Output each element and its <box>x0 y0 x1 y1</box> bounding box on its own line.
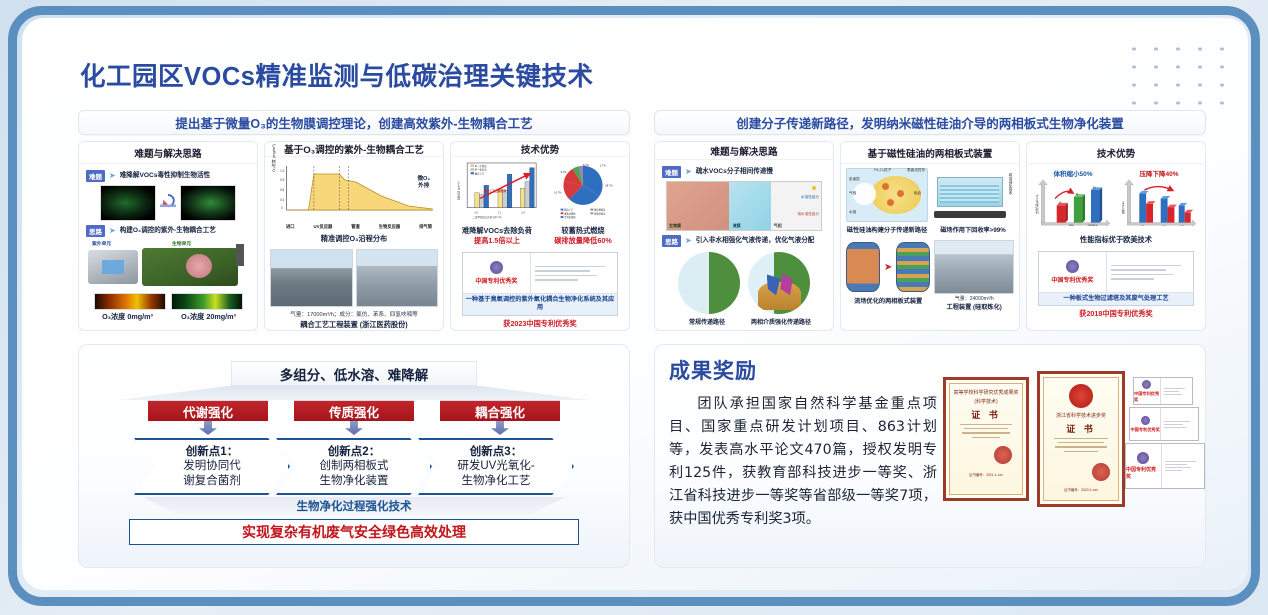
thermal-captions: O₃浓度 0mg/m³ O₃浓度 20mg/m³ <box>84 312 252 322</box>
problem-text: 疏水VOCs分子相间传递慢 <box>696 168 773 176</box>
innovation-title: 创新点3： <box>470 445 522 459</box>
panel-body: 胶束层 气相 水相 Fe₃O₄粒子 表面活性剂 硅油 磁性硅油构建分子传递新路径 <box>841 164 1019 330</box>
cert-line <box>535 270 590 272</box>
red-box-masstransfer: 传质强化 <box>294 399 414 421</box>
caption-d: 工程装置 (硅取炼化) <box>934 302 1014 311</box>
removal-load-barchart: 耦合工艺去除负荷 单一生物法 单一紫外法 耦合工艺 去除负荷 (g/m³·h) … <box>456 161 538 224</box>
panel-right-problem: 难题与解决思路 难题 ➤ 疏水VOCs分子相间传递慢 生物膜 液膜 <box>654 141 834 331</box>
plant-photos <box>270 249 438 307</box>
two-phase-path-circle <box>748 252 810 314</box>
problem-tag-row: 难题 ➤ 疏水VOCs分子相间传递慢 <box>662 166 828 178</box>
caption-a2: 提高1.5倍以上 <box>456 236 538 246</box>
carbon-emission-piechart: 6.7%1.7% 9.4%16.7%68.7% 耦合工艺 催化燃烧法 蓄热式燃烧… <box>542 161 624 224</box>
innovation-chevron-3: 创新点3： 研发UV光氧化- 生物净化工艺 <box>418 438 574 495</box>
svg-text:0.3: 0.3 <box>280 198 284 202</box>
uv-window <box>102 260 124 274</box>
official-seal-icon <box>994 446 1012 464</box>
device-top-figures: 胶束层 气相 水相 Fe₃O₄粒子 表面活性剂 硅油 磁性硅油构建分子传递新路径 <box>846 168 1014 234</box>
caption-a1: 难降解VOCs去除负荷 <box>456 226 538 236</box>
down-arrow-icon <box>148 421 268 437</box>
patent-certificate-block: 中国专利优秀奖 一种基于臭氧调控的紫外氧化耦合生物净化系统及其应用 <box>462 252 618 316</box>
certificate-award-text: 获2018中国专利优秀奖 <box>1032 309 1200 319</box>
transform-arrow-icon <box>160 193 176 213</box>
pressure-drop-chart: 压降下降40% <box>1118 168 1200 231</box>
microscopy-image-after <box>180 185 236 221</box>
flow-arrows <box>93 421 615 437</box>
caption-right: 两相介质强化传递路径 <box>748 317 814 326</box>
caption-right: O₃浓度 20mg/m³ <box>171 312 247 322</box>
xtick: 进口 <box>286 224 295 230</box>
approach-tag: 思路 <box>86 225 105 237</box>
svg-text:1.2: 1.2 <box>498 211 502 214</box>
certificate-award-text: 获2023中国专利优秀奖 <box>456 319 624 329</box>
thermal-images <box>84 293 252 310</box>
patent-mini-certificate-1: 中国专利优秀奖 <box>1133 377 1193 405</box>
bio-culture <box>186 254 212 278</box>
certificate-title: 中国专利优秀奖 <box>1051 275 1093 284</box>
poster-page: 化工园区VOCs精准监测与低碳治理关键技术 提出基于微量O₃的生物膜调控理论，创… <box>22 18 1248 590</box>
stack <box>236 244 244 266</box>
panel-head: 技术优势 <box>451 142 629 157</box>
caption-a: 磁性硅油构建分子传递新路径 <box>846 225 928 234</box>
advantage-3d-charts: 体积缩小50% 1424 <box>1032 168 1200 231</box>
patent-mini-certificate-2: 中国专利优秀奖 <box>1129 407 1199 441</box>
certificate-top: 中国专利优秀奖 <box>463 253 617 293</box>
svg-text:催化燃烧法: 催化燃烧法 <box>594 208 606 212</box>
svg-text:0: 0 <box>281 206 283 210</box>
thermal-image-20mg <box>171 293 243 310</box>
awards-title: 成果奖励 <box>669 355 779 385</box>
ozone-chart-xticks: 进口 UV反应器 管道 生物反应器 排气筒 <box>270 224 438 230</box>
advantage-captions: 难降解VOCs去除负荷 提高1.5倍以上 较蓄热式燃烧 碳排放量降低60% <box>456 226 624 246</box>
mini-cert-label: 中国专利优秀奖 <box>1134 391 1160 403</box>
svg-text:二氯甲烷进口负荷 (g/m³·h): 二氯甲烷进口负荷 (g/m³·h) <box>473 215 502 219</box>
certificate-text-lines <box>1107 252 1193 292</box>
column-right-panels: 难题与解决思路 难题 ➤ 疏水VOCs分子相间传递慢 生物膜 液膜 <box>654 141 1206 331</box>
magnet-label: 磁场强化回收 <box>1009 173 1014 195</box>
svg-text:68.7%: 68.7% <box>605 183 613 187</box>
red-box-metabolic: 代谢强化 <box>148 399 268 421</box>
certificate-sub: (科学技术) <box>974 399 997 405</box>
industrial-plant-photo <box>934 240 1014 294</box>
plant-photo-spec: 气量：17000m³/h；成分：氯仿、苯系、四氢呋喃等 <box>270 310 438 318</box>
innovation-line2: 生物净化工艺 <box>462 474 531 488</box>
down-arrow-icon <box>440 421 560 437</box>
certificate-description: 一种基于臭氧调控的紫外氧化耦合生物净化系统及其应用 <box>463 293 617 315</box>
biofilm-layer: 生物膜 <box>667 182 729 230</box>
mini-cert-label: 中国专利优秀奖 <box>1130 427 1159 433</box>
approach-tag-row: 思路 ➤ 引入非水相强化气液传递，优化气液分配 <box>662 235 828 247</box>
volume-reduction-chart: 体积缩小50% 1424 <box>1032 168 1114 231</box>
down-arrow-icon <box>294 421 414 437</box>
certificate-title: 中国专利优秀奖 <box>475 276 517 285</box>
panel-head: 难题与解决思路 <box>655 142 833 160</box>
innovation-line1: 创制两相板式 <box>320 459 389 473</box>
svg-text:耦合工艺去除负荷: 耦合工艺去除负荷 <box>484 189 506 193</box>
svg-text:0.6: 0.6 <box>280 188 284 192</box>
panel-head: 技术优势 <box>1027 142 1205 164</box>
ozone-chart-note: 微O₃外排 <box>417 176 430 191</box>
svg-text:国外: 国外 <box>1069 224 1075 226</box>
svg-text:单一生物法: 单一生物法 <box>475 164 488 168</box>
mass-transfer-diagram: 生物膜 液膜 水溶性组分 难水溶性组分 气相 <box>666 181 822 231</box>
approach-text: 构建O₃调控的紫外-生物耦合工艺 <box>120 227 216 235</box>
panel-head: 基于磁性硅油的两相板式装置 <box>841 142 1019 164</box>
caption-b2: 碳排放量降低60% <box>542 236 624 246</box>
svg-text:去除负荷(g/m³·h): 去除负荷(g/m³·h) <box>1035 194 1039 214</box>
svg-text:16.7%: 16.7% <box>554 191 562 195</box>
svg-text:两相板式: 两相板式 <box>1088 224 1099 226</box>
innovation-title: 创新点1： <box>186 445 238 459</box>
certificate-org: 高等学校科学研究优秀成果奖 <box>953 390 1018 396</box>
panel-right-device: 基于磁性硅油的两相板式装置 胶束层 气相 <box>840 141 1020 331</box>
industrial-plant-figure: 气量：24000m³/h 工程装置 (硅取炼化) <box>934 240 1014 311</box>
svg-text:活性炭吸附: 活性炭吸附 <box>564 215 576 219</box>
patent-logo-icon <box>490 261 503 274</box>
ozone-chart-ylabel: O₃浓度 (mg/m³) <box>271 144 277 172</box>
magnetic-recovery-figure: 磁场强化回收 磁场作用下回收率>99% <box>932 168 1014 234</box>
svg-text:单一紫外法: 单一紫外法 <box>475 168 488 172</box>
panel-right-advantage: 技术优势 体积缩小50% <box>1026 141 1206 331</box>
approach-text: 引入非水相强化气液传递，优化气液分配 <box>696 237 815 245</box>
process-schematic: 紫外单元 生物单元 <box>86 240 250 290</box>
panel-body: 难题 ➤ 难降解VOCs毒性抑制生物活性 <box>79 164 257 330</box>
arrow-icon: ➤ <box>109 172 116 180</box>
gas-phase-layer: 水溶性组分 难水溶性组分 气相 <box>771 182 821 230</box>
column-right: 创建分子传递新路径，发明纳米磁性硅油介导的两相板式生物净化装置 难题与解决思路 … <box>654 110 1206 331</box>
ozone-distribution-chart: 1.20.9 0.60.30 O₃浓度 (mg/m³) 微O₃外排 <box>272 162 436 224</box>
svg-text:耦合工艺: 耦合工艺 <box>564 208 574 212</box>
svg-text:蓄热式燃烧: 蓄热式燃烧 <box>564 211 576 215</box>
cert-line <box>535 275 598 277</box>
panel-left-problem: 难题与解决思路 难题 ➤ 难降解VOCs毒性抑制生物活性 <box>78 141 258 331</box>
reactor-comparison: ➤ 流场优化的两相板式装置 <box>846 240 930 311</box>
liquid-film-layer: 液膜 <box>729 182 771 230</box>
innovation-chevrons: 创新点1： 发明协同代 谢复合菌剂 创新点2： 创制两相板式 生物净化装置 创新… <box>93 438 615 495</box>
advantage-caption: 性能指标优于欧美技术 <box>1032 235 1200 245</box>
svg-text:1.2: 1.2 <box>280 169 284 173</box>
svg-text:6.7%: 6.7% <box>583 163 590 167</box>
official-seal-icon <box>1092 463 1110 481</box>
panel-body: 1.20.9 0.60.30 O₃浓度 (mg/m³) 微O₃外排 进口 UV反… <box>265 157 443 331</box>
flow-red-boxes: 代谢强化 传质强化 耦合强化 <box>93 399 615 421</box>
panel-body: 体积缩小50% 1424 <box>1027 164 1205 330</box>
column-right-banner: 创建分子传递新路径，发明纳米磁性硅油介导的两相板式生物净化装置 <box>654 110 1206 135</box>
cert-line <box>1111 265 1181 267</box>
certificate-footer: 证书编号：2021-1-xxx <box>969 473 1003 477</box>
uv-unit-label: 紫外单元 <box>92 240 111 247</box>
caption-left: O₃浓度 0mg/m³ <box>90 312 166 322</box>
panel-left-process: 基于O₃调控的紫外-生物耦合工艺 1.20.9 0.60.3 <box>264 141 444 331</box>
arrow-icon: ➤ <box>109 227 116 235</box>
cert-line <box>1111 269 1166 271</box>
innovation-line2: 谢复合菌剂 <box>183 474 241 488</box>
cert-line <box>535 279 578 281</box>
panel-body: 难题 ➤ 疏水VOCs分子相间传递慢 生物膜 液膜 水溶性组分 <box>655 160 833 330</box>
caption-b1: 较蓄热式燃烧 <box>542 226 624 236</box>
svg-text:0.6: 0.6 <box>475 211 479 214</box>
certificate-moe: 高等学校科学研究优秀成果奖 (科学技术) 证 书 证书编号：2021-1-xxx <box>943 377 1029 501</box>
caption-left: 常规传递路径 <box>674 317 740 326</box>
awards-certificate-images: 高等学校科学研究优秀成果奖 (科学技术) 证 书 证书编号：2021-1-xxx… <box>937 355 1191 557</box>
certificate-big: 证 书 <box>971 408 1001 421</box>
conventional-path-circle <box>678 252 740 314</box>
cert-line <box>1111 278 1154 280</box>
column-left-banner: 提出基于微量O₃的生物膜调控理论，创建高效紫外-生物耦合工艺 <box>78 110 630 135</box>
svg-text:吸附浓缩法: 吸附浓缩法 <box>594 211 606 215</box>
svg-text:1.8: 1.8 <box>521 211 525 214</box>
plant-photo-1 <box>270 249 353 307</box>
xtick: 生物反应器 <box>379 224 400 230</box>
column-left-panels: 难题与解决思路 难题 ➤ 难降解VOCs毒性抑制生物活性 <box>78 141 630 331</box>
patent-certificate-block: 中国专利优秀奖 一种板式生物过滤塔及其废气处理工艺 <box>1038 251 1194 306</box>
microscopy-image-before <box>100 185 156 221</box>
awards-body-text: 团队承担国家自然科学基金重点项目、国家重点研发计划项目、863计划等，发表高水平… <box>669 393 937 531</box>
xtick: 排气筒 <box>419 224 432 230</box>
panel-head: 难题与解决思路 <box>79 142 257 164</box>
certificate-big: 证 书 <box>1066 422 1096 435</box>
svg-text:1.7%: 1.7% <box>600 164 607 168</box>
thermal-image-0mg <box>94 293 166 310</box>
certificate-logo-area: 中国专利优秀奖 <box>463 253 531 293</box>
certificate-top: 中国专利优秀奖 <box>1039 252 1193 292</box>
approach-tag: 思路 <box>662 235 681 247</box>
ozone-chart-caption: 精准调控O₃沿程分布 <box>270 234 438 244</box>
national-emblem-icon <box>1069 384 1093 408</box>
caption-b: 磁场作用下回收率>99% <box>932 225 1014 234</box>
arrow-icon: ➤ <box>685 237 692 245</box>
cert-line <box>1111 274 1174 276</box>
awards-section: 成果奖励 团队承担国家自然科学基金重点项目、国家重点研发计划项目、863计划等，… <box>654 344 1206 568</box>
problem-tag: 难题 <box>662 166 681 178</box>
transfer-path-captions: 常规传递路径 两相介质强化传递路径 <box>660 317 828 326</box>
problem-tag-row: 难题 ➤ 难降解VOCs毒性抑制生物活性 <box>86 170 252 182</box>
svg-text:去除负荷 (g/m³·h): 去除负荷 (g/m³·h) <box>457 181 461 200</box>
svg-text:0.9: 0.9 <box>280 178 284 182</box>
column-left: 提出基于微量O₃的生物膜调控理论，创建高效紫外-生物耦合工艺 难题与解决思路 难… <box>78 110 630 331</box>
awards-text-column: 成果奖励 团队承担国家自然科学基金重点项目、国家重点研发计划项目、863计划等，… <box>669 355 937 557</box>
problem-text: 难降解VOCs毒性抑制生物活性 <box>120 172 211 180</box>
micelle-schematic: 胶束层 气相 水相 Fe₃O₄粒子 表面活性剂 硅油 磁性硅油构建分子传递新路径 <box>846 168 928 234</box>
flow-band-label: 生物净化过程强化技术 <box>297 498 412 514</box>
bar2-title: 压降下降40% <box>1118 168 1200 178</box>
mini-cert-label: 中国专利优秀奖 <box>1126 466 1161 480</box>
certificate-description: 一种板式生物过滤塔及其废气处理工艺 <box>1039 292 1193 305</box>
microscopy-pair <box>84 185 252 221</box>
bar1-title: 体积缩小50% <box>1032 168 1114 178</box>
svg-text:压降 (Pa/m): 压降 (Pa/m) <box>1121 201 1125 214</box>
arrow-icon: ➤ <box>685 168 692 176</box>
panel-body: 耦合工艺去除负荷 单一生物法 单一紫外法 耦合工艺 去除负荷 (g/m³·h) … <box>451 157 629 331</box>
certificate-footer: 证书编号：2020-1-xxx <box>1064 488 1098 492</box>
advantage-charts: 耦合工艺去除负荷 单一生物法 单一紫外法 耦合工艺 去除负荷 (g/m³·h) … <box>456 161 624 224</box>
certificate-zhejiang: 浙江省科学技术进步奖 证 书 证书编号：2020-1-xxx <box>1037 371 1125 507</box>
innovation-line1: 发明协同代 <box>183 459 241 473</box>
flow-bottom-box: 实现复杂有机废气安全绿色高效处理 <box>129 519 579 545</box>
panel-head: 基于O₃调控的紫外-生物耦合工艺 <box>265 142 443 157</box>
page-title: 化工园区VOCs精准监测与低碳治理关键技术 <box>80 56 593 93</box>
patent-mini-certificate-3: 中国专利优秀奖 <box>1125 443 1205 489</box>
red-box-coupling: 耦合强化 <box>440 399 560 421</box>
innovation-chevron-2: 创新点2： 创制两相板式 生物净化装置 <box>276 438 432 495</box>
cert-line <box>535 266 605 268</box>
approach-tag-row: 思路 ➤ 构建O₃调控的紫外-生物耦合工艺 <box>86 225 252 237</box>
caption-c: 流场优化的两相板式装置 <box>846 296 930 305</box>
flow-top-box: 多组分、低水溶、难降解 <box>231 361 477 386</box>
device-bottom-figures: ➤ 流场优化的两相板式装置 气量：24000m³/h 工程装置 (硅取炼化) <box>846 240 1014 311</box>
dot-grid-decoration-top-right <box>1123 40 1228 112</box>
certificate-org: 浙江省科学技术进步奖 <box>1056 413 1106 419</box>
innovation-title: 创新点2： <box>328 445 380 459</box>
plant-photo-caption: 耦合工艺工程装置 (浙江医药股份) <box>270 320 438 330</box>
certificate-text-lines <box>531 253 617 293</box>
transfer-path-circles <box>660 252 828 314</box>
innovation-chevron-1: 创新点1： 发明协同代 谢复合菌剂 <box>134 438 290 495</box>
xtick: UV反应器 <box>313 224 332 230</box>
plant-photo-2 <box>356 249 439 307</box>
xtick: 管道 <box>351 224 360 230</box>
panel-left-advantage: 技术优势 <box>450 141 630 331</box>
innovation-line2: 生物净化装置 <box>320 474 389 488</box>
svg-text:耦合工艺: 耦合工艺 <box>475 171 485 175</box>
innovation-line1: 研发UV光氧化- <box>457 459 534 473</box>
flow-funnel-shape <box>119 386 589 400</box>
flow-band: 生物净化过程强化技术 <box>124 497 584 515</box>
certificate-logo-area: 中国专利优秀奖 <box>1039 252 1107 292</box>
bio-unit-label: 生物单元 <box>172 240 191 247</box>
innovation-flow-diagram: 多组分、低水溶、难降解 代谢强化 传质强化 耦合强化 创新点1： 发明协同代 谢… <box>78 344 630 568</box>
patent-logo-icon <box>1066 260 1079 273</box>
problem-tag: 难题 <box>86 170 105 182</box>
flow-note: 气量：24000m³/h <box>934 295 1014 302</box>
svg-text:9.4%: 9.4% <box>561 170 568 174</box>
